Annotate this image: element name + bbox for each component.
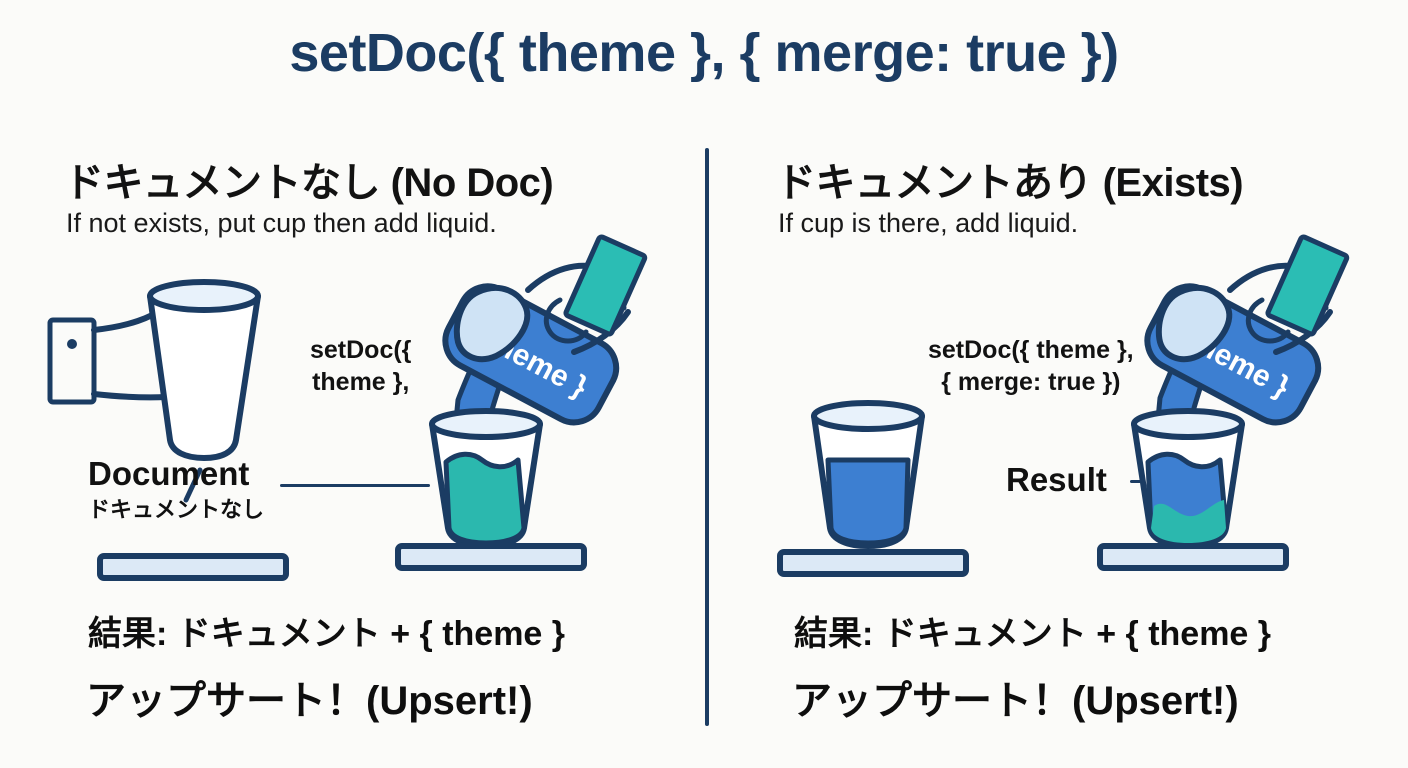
- panel-no-doc: ドキュメントなし (No Doc) If not exists, put cup…: [0, 0, 706, 768]
- result-line-no-doc: 結果: ドキュメント + { theme }: [88, 606, 565, 655]
- panel-exists: ドキュメントあり (Exists) If cup is there, add l…: [710, 0, 1408, 768]
- outcome-line-exists: アップサート！(Upsert!): [792, 668, 1239, 726]
- outcome-line-no-doc: アップサート！(Upsert!): [86, 668, 533, 726]
- result-line-exists: 結果: ドキュメント + { theme }: [794, 606, 1271, 655]
- diagram-canvas: setDoc({ theme }, { merge: true }) ドキュメン…: [0, 0, 1408, 768]
